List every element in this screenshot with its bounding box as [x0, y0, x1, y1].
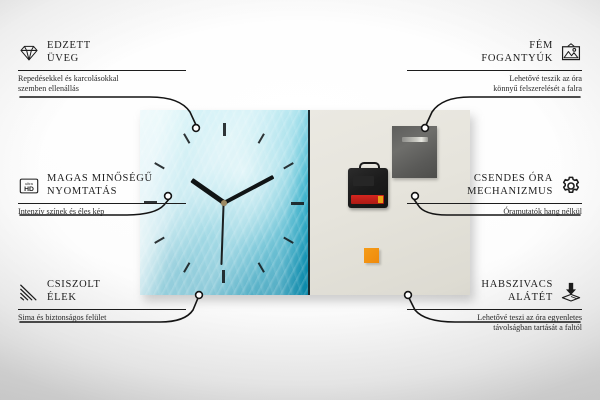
feature-description: Lehetővé teszik az órakönnyű felszerelés… [407, 74, 582, 95]
foam-pad-sample [364, 248, 379, 263]
feature-divider [407, 309, 582, 310]
feature-title: CSENDES ÓRAMECHANIZMUS [467, 173, 553, 199]
infographic-canvas: EDZETTÜVEG Repedésekkel és karcolásokkal… [0, 0, 600, 400]
mechanism-battery [351, 195, 384, 204]
ultra-hd-icon: ultra HD [18, 175, 40, 197]
feature-polished-edges: CSISZOLTÉLEK Sima és biztonságos felület [18, 279, 193, 323]
foam-pad-arrow-icon [560, 281, 582, 303]
feature-divider [18, 203, 186, 204]
feature-header: ultra HD MAGAS MINŐSÉGŰNYOMTATÁS [18, 173, 193, 199]
feature-description: Repedésekkel és karcolásokkalszemben ell… [18, 74, 193, 95]
metal-hanger-plate [392, 126, 437, 178]
feature-divider [18, 309, 186, 310]
feature-title: EDZETTÜVEG [47, 40, 91, 66]
clock-center-cap [221, 200, 227, 206]
feature-description: Sima és biztonságos felület [18, 313, 193, 324]
clock-mechanism [348, 168, 388, 208]
feature-header: CSISZOLTÉLEK [18, 279, 193, 305]
feature-title: CSISZOLTÉLEK [47, 279, 101, 305]
feature-metal-handles: FÉMFOGANTYÚK Lehetővé teszik az órakönny… [407, 40, 582, 95]
feature-description: Intenzív színek és éles kép [18, 207, 193, 218]
feature-tempered-glass: EDZETTÜVEG Repedésekkel és karcolásokkal… [18, 40, 193, 95]
picture-frame-hanger-icon [560, 42, 582, 64]
feature-header: FÉMFOGANTYÚK [407, 40, 582, 66]
feature-foam-pad: HABSZIVACSALÁTÉT Lehetővé teszi az óra e… [407, 279, 582, 334]
feature-header: CSENDES ÓRAMECHANIZMUS [407, 173, 582, 199]
gear-icon [560, 175, 582, 197]
feature-divider [407, 70, 582, 71]
beveled-edge-icon [18, 281, 40, 303]
mechanism-body [348, 168, 388, 208]
hanger-slot [402, 137, 428, 142]
diamond-icon [18, 42, 40, 64]
feature-divider [18, 70, 186, 71]
feature-header: HABSZIVACSALÁTÉT [407, 279, 582, 305]
svg-text:HD: HD [24, 186, 34, 193]
feature-title: HABSZIVACSALÁTÉT [481, 279, 553, 305]
clock-tick [223, 123, 225, 203]
feature-description: Lehetővé teszi az óra egyenletestávolság… [407, 313, 582, 334]
feature-silent-clock-mechanism: CSENDES ÓRAMECHANIZMUS Óramutatók hang n… [407, 173, 582, 217]
feature-title: MAGAS MINŐSÉGŰNYOMTATÁS [47, 173, 153, 199]
feature-divider [407, 203, 582, 204]
feature-description: Óramutatók hang nélkül [407, 207, 582, 218]
feature-header: EDZETTÜVEG [18, 40, 193, 66]
feature-high-quality-print: ultra HD MAGAS MINŐSÉGŰNYOMTATÁS Intenzí… [18, 173, 193, 217]
feature-title: FÉMFOGANTYÚK [481, 40, 553, 66]
clock-tick [224, 202, 304, 204]
mechanism-detail [353, 176, 374, 186]
